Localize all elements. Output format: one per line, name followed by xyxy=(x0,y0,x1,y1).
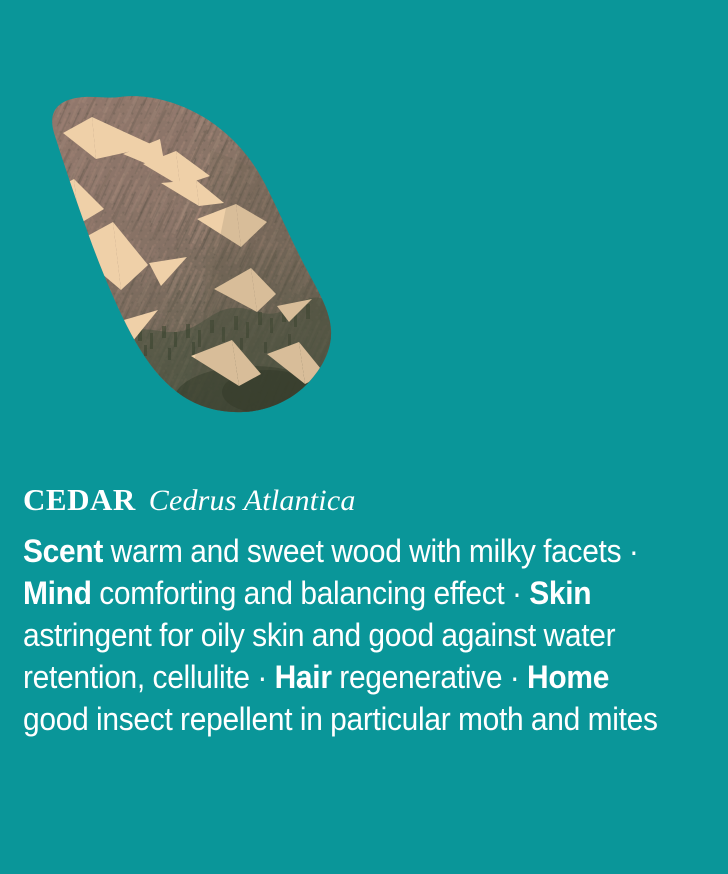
cedar-illustration xyxy=(0,0,728,470)
text-mind: comforting and balancing effect xyxy=(99,575,504,611)
text-hair: regenerative xyxy=(339,659,502,695)
common-name: CEDAR xyxy=(23,482,136,517)
text-scent: warm and sweet wood with milky facets xyxy=(111,533,622,569)
separator-1: · xyxy=(629,533,639,569)
cedar-text-block: CEDARCedrus Atlantica Scent warm and swe… xyxy=(23,484,705,740)
label-mind: Mind xyxy=(23,575,92,611)
latin-name: Cedrus Atlantica xyxy=(149,484,356,517)
cedar-info-card: CEDARCedrus Atlantica Scent warm and swe… xyxy=(0,0,728,874)
leaf-body xyxy=(0,0,728,470)
label-scent: Scent xyxy=(23,533,103,569)
leaf-dark-region xyxy=(0,250,728,470)
label-hair: Hair xyxy=(275,659,332,695)
page-title: CEDARCedrus Atlantica xyxy=(23,484,705,516)
description-paragraph: Scent warm and sweet wood with milky fac… xyxy=(23,530,659,740)
separator-3: · xyxy=(257,659,267,695)
text-home: good insect repellent in particular moth… xyxy=(23,701,658,737)
label-home: Home xyxy=(527,659,609,695)
separator-4: · xyxy=(510,659,520,695)
label-skin: Skin xyxy=(529,575,591,611)
cedar-leaf-graphic xyxy=(0,0,728,470)
separator-2: · xyxy=(512,575,522,611)
